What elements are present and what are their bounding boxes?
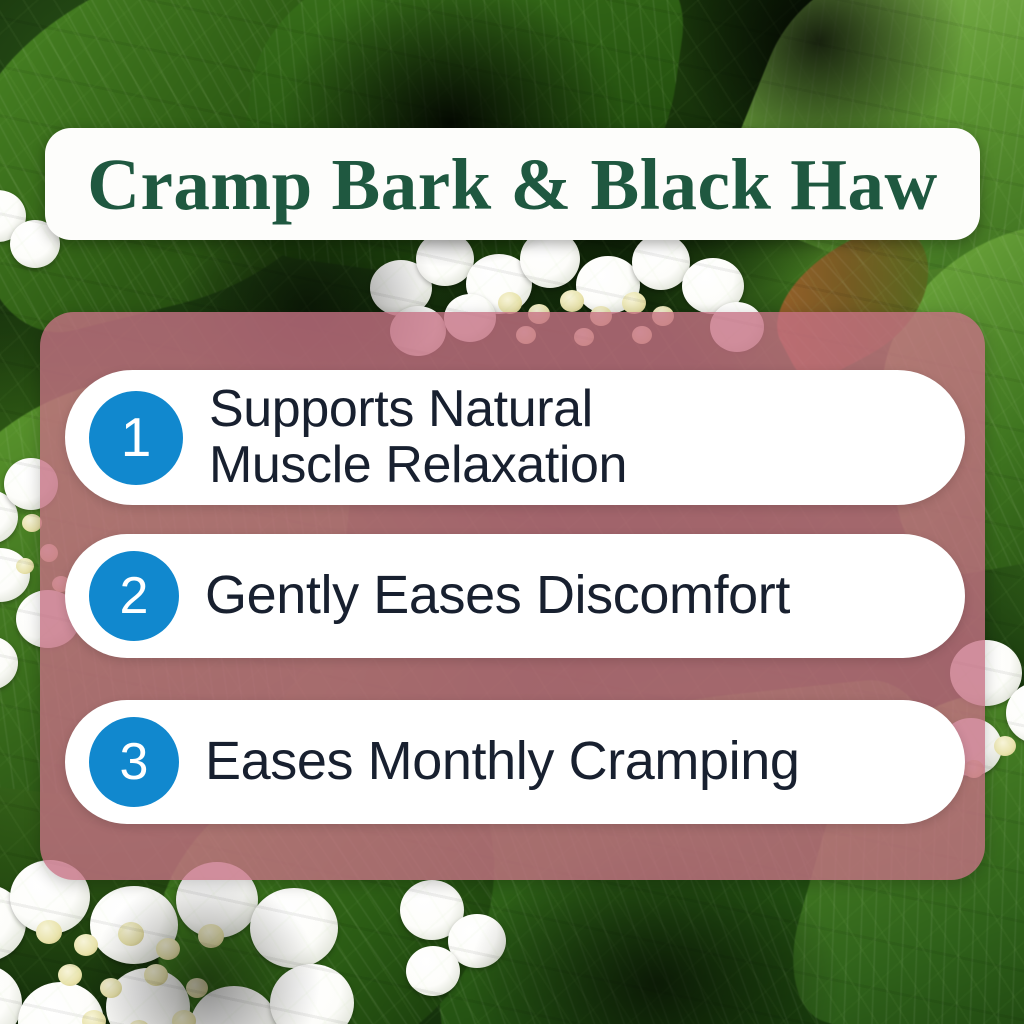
benefit-label-1: Supports Natural Muscle Relaxation (209, 382, 627, 492)
list-item[interactable]: 1 Supports Natural Muscle Relaxation (65, 370, 965, 505)
benefits-panel: 1 Supports Natural Muscle Relaxation 2 G… (40, 312, 985, 880)
benefit-number-badge-2: 2 (89, 551, 179, 641)
list-item[interactable]: 2 Gently Eases Discomfort (65, 534, 965, 658)
page-title: Cramp Bark & Black Haw (87, 148, 938, 221)
poster-canvas: Cramp Bark & Black Haw 1 Supports Natura… (0, 0, 1024, 1024)
benefit-number-badge-1: 1 (89, 391, 183, 485)
title-card: Cramp Bark & Black Haw (45, 128, 980, 240)
benefit-label-2: Gently Eases Discomfort (205, 567, 790, 624)
benefit-number-badge-3: 3 (89, 717, 179, 807)
benefit-label-3: Eases Monthly Cramping (205, 733, 799, 790)
list-item[interactable]: 3 Eases Monthly Cramping (65, 700, 965, 824)
